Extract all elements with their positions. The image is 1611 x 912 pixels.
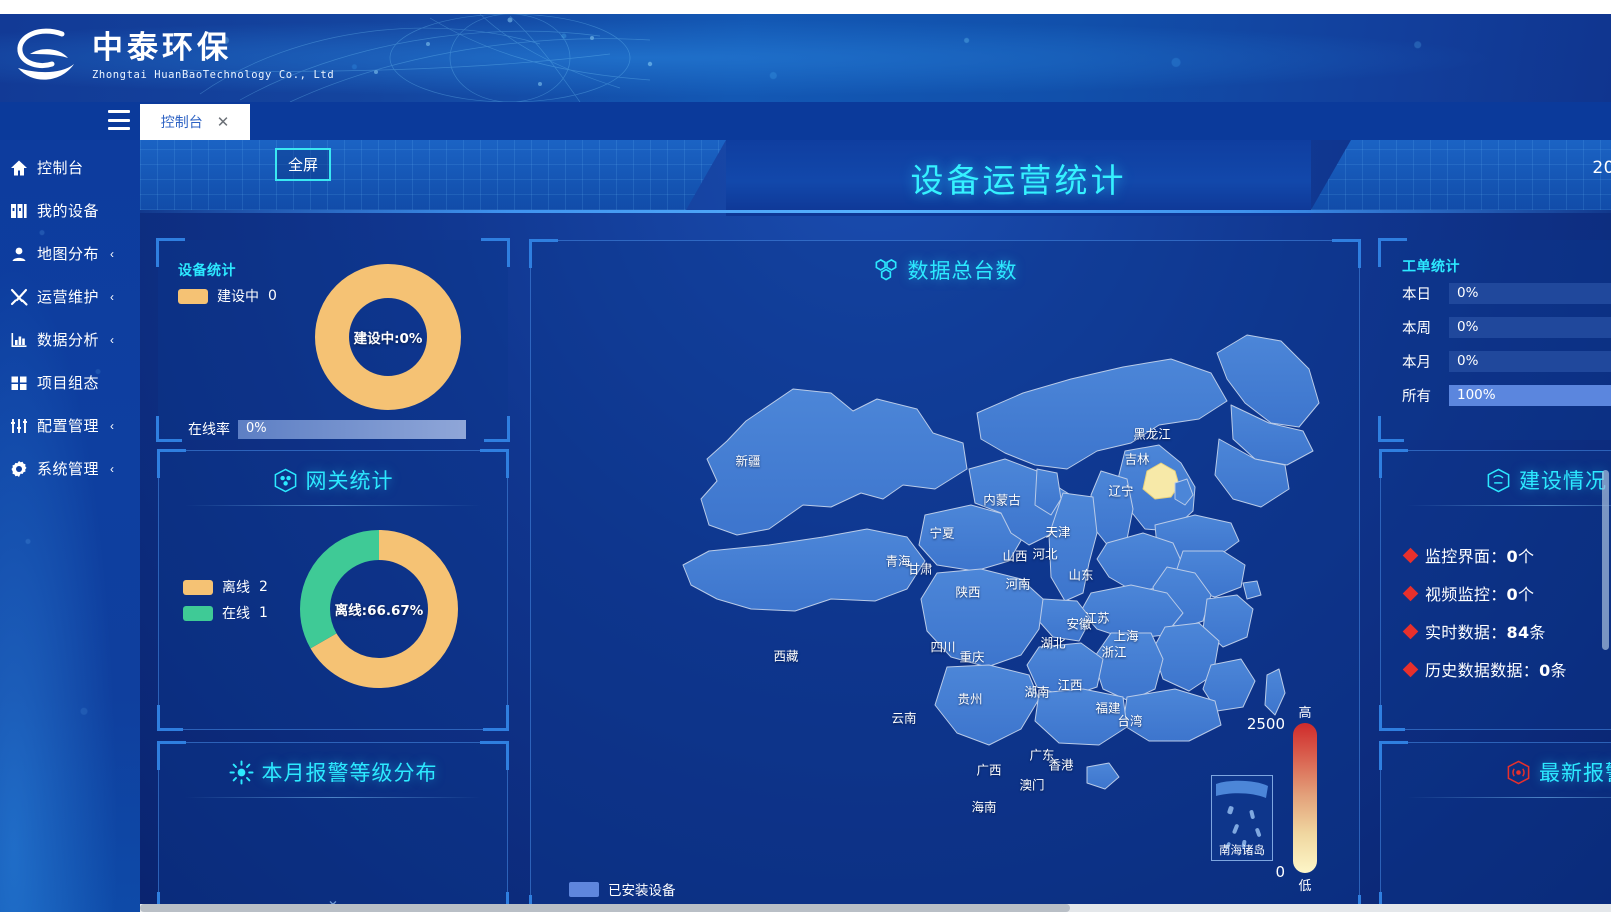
province-label: 甘肃 xyxy=(907,559,932,578)
sidebar-item-label: 项目组态 xyxy=(37,372,99,393)
brand-name-en: Zhongtai HuanBaoTechnology Co., Ltd xyxy=(92,70,334,81)
home-icon xyxy=(6,159,32,177)
sidebar-item-label: 我的设备 xyxy=(37,200,99,221)
hex-cluster-icon xyxy=(873,257,900,284)
work-order-bar: 0% xyxy=(1449,317,1611,338)
construction-item-text: 监控界面：0个 xyxy=(1425,543,1534,567)
device-icon xyxy=(6,202,32,220)
construction-item: 实时数据：84条 xyxy=(1405,619,1567,643)
construction-item-unit: 个 xyxy=(1518,585,1534,604)
legend-label: 在线 xyxy=(222,603,250,623)
sidebar-item-data-analysis[interactable]: 数据分析 ‹ xyxy=(0,318,140,361)
province-label: 吉林 xyxy=(1124,449,1149,468)
legend-item[interactable]: 在线 1 xyxy=(183,603,268,623)
chart-icon xyxy=(6,331,32,349)
tab-console[interactable]: 控制台 ✕ xyxy=(140,104,250,140)
sidebar-item-operations[interactable]: 运营维护 ‹ xyxy=(0,275,140,318)
work-order-value: 0% xyxy=(1457,319,1478,335)
province-label: 广西 xyxy=(976,760,1001,779)
diamond-bullet-icon xyxy=(1403,661,1419,677)
province-label: 湖南 xyxy=(1024,682,1049,701)
legend-label: 离线 xyxy=(222,577,250,597)
province-label: 山西 xyxy=(1002,546,1027,565)
construction-item-value: 84 xyxy=(1507,623,1530,642)
province-label: 湖北 xyxy=(1040,633,1065,652)
work-order-bar: 100% xyxy=(1449,385,1611,406)
sidebar-item-console[interactable]: 控制台 xyxy=(0,146,140,189)
legend-color-swatch xyxy=(178,289,208,304)
construction-item-unit: 条 xyxy=(1551,661,1567,680)
work-order-bar: 0% xyxy=(1449,351,1611,372)
province-label: 内蒙古 xyxy=(983,490,1021,509)
colorbar-high-label: 高 xyxy=(1298,702,1311,721)
alarm-radio-icon xyxy=(1506,760,1531,785)
chevron-left-icon: ‹ xyxy=(110,462,114,476)
work-order-label: 本月 xyxy=(1402,351,1440,372)
legend-item[interactable]: 离线 2 xyxy=(183,577,268,597)
alarm-level-panel-title-text: 本月报警等级分布 xyxy=(262,757,438,787)
province-label: 陕西 xyxy=(955,582,980,601)
province-label: 宁夏 xyxy=(929,523,954,542)
grid-icon xyxy=(6,374,32,392)
construction-item-unit: 条 xyxy=(1529,623,1545,642)
header-right-decoration: 20 xyxy=(1311,140,1611,210)
sidebar-item-label: 控制台 xyxy=(37,157,84,178)
diamond-bullet-icon xyxy=(1403,547,1419,563)
brand-logo[interactable]: 中泰环保 Zhongtai HuanBaoTechnology Co., Ltd xyxy=(12,24,334,86)
construction-item-label: 视频监控： xyxy=(1425,585,1507,604)
legend-color-swatch xyxy=(569,882,599,897)
page-title: 设备运营统计 xyxy=(911,154,1127,202)
header-underline xyxy=(140,210,1611,213)
gateway-panel-title-text: 网关统计 xyxy=(306,465,394,495)
construction-item-unit: 个 xyxy=(1518,547,1534,566)
construction-item-value: 0 xyxy=(1507,585,1518,604)
device-stats-panel: 设备统计 建设中 0 建设中:0% xyxy=(158,240,508,440)
province-label: 黑龙江 xyxy=(1133,424,1171,443)
construction-item-label: 实时数据： xyxy=(1425,623,1507,642)
construction-item-label: 监控界面： xyxy=(1425,547,1507,566)
province-label: 天津 xyxy=(1045,522,1070,541)
province-label: 澳门 xyxy=(1019,775,1044,794)
work-order-label: 本日 xyxy=(1402,283,1440,304)
work-order-bar: 0% xyxy=(1449,283,1611,304)
chevron-left-icon: ‹ xyxy=(110,247,114,261)
map-panel: 数据总台数 xyxy=(530,240,1360,904)
online-rate-label: 在线率 xyxy=(188,419,230,439)
tab-label: 控制台 xyxy=(161,112,203,132)
construction-item: 监控界面：0个 xyxy=(1405,543,1567,567)
work-order-row[interactable]: 本周 0% xyxy=(1402,317,1611,338)
work-order-stats-panel: 工单统计 本日 0% 本周 0% 本月 xyxy=(1380,240,1611,440)
colorbar-min-value: 0 xyxy=(1275,863,1285,881)
province-label: 新疆 xyxy=(735,451,760,470)
chevron-left-icon: ‹ xyxy=(110,333,114,347)
colorbar-gradient xyxy=(1293,723,1317,873)
construction-item-text: 历史数据数据：0条 xyxy=(1425,657,1567,681)
work-order-value: 0% xyxy=(1457,285,1478,301)
wave-leaf-logo-icon xyxy=(12,24,84,86)
work-order-row[interactable]: 本日 0% xyxy=(1402,283,1611,304)
construction-hex-icon xyxy=(1486,468,1511,493)
province-label: 浙江 xyxy=(1101,642,1126,661)
donut-center-label: 建设中:0% xyxy=(354,327,423,347)
province-label: 海南 xyxy=(971,797,996,816)
province-label: 江西 xyxy=(1057,675,1082,694)
nanhai-inset-label: 南海诸岛 xyxy=(1212,842,1272,858)
sidebar-item-label: 系统管理 xyxy=(37,458,99,479)
sliders-icon xyxy=(6,417,32,435)
latest-alarm-panel-title: 最新报警 xyxy=(1381,743,1611,787)
legend-color-swatch xyxy=(183,580,213,595)
donut-center-label: 离线:66.67% xyxy=(335,599,424,619)
device-stats-caption: 设备统计 xyxy=(178,260,277,280)
latest-alarm-panel-title-text: 最新报警 xyxy=(1539,757,1611,787)
map-pin-icon xyxy=(6,245,32,263)
sidebar-item-label: 配置管理 xyxy=(37,415,99,436)
horizontal-scrollbar[interactable] xyxy=(140,904,1611,912)
nanhai-islands-inset: 南海诸岛 xyxy=(1211,775,1273,861)
map-panel-title: 数据总台数 xyxy=(531,241,1359,285)
province-label: 山东 xyxy=(1068,565,1093,584)
header-center: 设备运营统计 xyxy=(726,140,1311,216)
map-panel-title-text: 数据总台数 xyxy=(908,255,1018,285)
construction-panel-title: 建设情况 xyxy=(1381,451,1611,495)
colorbar-low-label: 低 xyxy=(1298,875,1311,894)
construction-item-text: 实时数据：84条 xyxy=(1425,619,1546,643)
map-legend-label: 已安装设备 xyxy=(608,879,676,899)
hamburger-menu-icon[interactable] xyxy=(108,110,130,130)
sidebar-item-settings-management[interactable]: 配置管理 ‹ xyxy=(0,404,140,447)
sidebar-item-system-management[interactable]: 系统管理 ‹ xyxy=(0,447,140,490)
brand-name-cn: 中泰环保 xyxy=(92,33,334,64)
panel-divider xyxy=(1407,797,1611,798)
province-label: 四川 xyxy=(930,637,955,656)
panel-divider xyxy=(185,505,481,506)
brand-header: 中泰环保 Zhongtai HuanBaoTechnology Co., Ltd xyxy=(0,14,1611,102)
province-label: 云南 xyxy=(891,708,916,727)
gear-icon xyxy=(6,460,32,478)
construction-panel: 建设情况 监控界面：0个 视频监控：0个 xyxy=(1380,450,1611,730)
legend-value: 1 xyxy=(259,605,268,621)
construction-item-label: 历史数据数据： xyxy=(1425,661,1539,680)
work-order-label: 本周 xyxy=(1402,317,1440,338)
construction-item-value: 0 xyxy=(1539,661,1550,680)
browser-top-strip xyxy=(0,0,1611,14)
province-label: 辽宁 xyxy=(1108,481,1133,500)
work-order-row[interactable]: 本月 0% xyxy=(1402,351,1611,372)
province-label: 江苏 xyxy=(1084,608,1109,627)
chevron-left-icon: ‹ xyxy=(110,419,114,433)
legend-label: 建设中 xyxy=(217,286,259,306)
sidebar-item-label: 运营维护 xyxy=(37,286,99,307)
online-rate-value: 0% xyxy=(246,421,267,436)
legend-value: 0 xyxy=(268,288,277,304)
construction-item: 历史数据数据：0条 xyxy=(1405,657,1567,681)
province-label: 贵州 xyxy=(957,689,982,708)
province-label: 重庆 xyxy=(959,647,984,666)
sidebar: 控制台 我的设备 地图分布 ‹ 运营维护 ‹ 数据分析 xyxy=(0,140,140,912)
diamond-bullet-icon xyxy=(1403,623,1419,639)
construction-item: 视频监控：0个 xyxy=(1405,581,1567,605)
dashboard-header: 20 设备运营统计 全屏 xyxy=(140,140,1611,216)
legend-value: 2 xyxy=(259,579,268,595)
dashboard-page: 中泰环保 Zhongtai HuanBaoTechnology Co., Ltd… xyxy=(0,0,1611,912)
panel-divider xyxy=(1407,505,1611,506)
work-order-row[interactable]: 所有 100% xyxy=(1402,385,1611,406)
work-order-caption: 工单统计 xyxy=(1402,256,1611,276)
close-icon[interactable]: ✕ xyxy=(217,115,230,130)
province-label: 河北 xyxy=(1032,544,1057,563)
map-colorbar[interactable]: 高 低 2500 0 xyxy=(1293,723,1317,873)
legend-item[interactable]: 建设中 0 xyxy=(178,286,277,306)
header-left-decoration xyxy=(140,140,726,210)
province-label: 台湾 xyxy=(1117,711,1142,730)
scroll-down-icon: ⌄ xyxy=(326,890,339,904)
chevron-left-icon: ‹ xyxy=(110,290,114,304)
work-order-value: 0% xyxy=(1457,353,1478,369)
dashboard-canvas: 20 设备运营统计 全屏 设备统计 建设中 0 xyxy=(140,140,1611,904)
map-legend: 已安装设备 xyxy=(569,879,676,899)
alarm-level-panel: 本月报警等级分布 ⌄ xyxy=(158,742,508,904)
header-datetime: 20 xyxy=(1592,158,1611,178)
colorbar-max-value: 2500 xyxy=(1247,715,1285,733)
diamond-bullet-icon xyxy=(1403,585,1419,601)
gateway-stats-panel: 网关统计 离线 2 在线 1 xyxy=(158,450,508,730)
construction-panel-title-text: 建设情况 xyxy=(1519,465,1607,495)
province-label: 河南 xyxy=(1005,574,1030,593)
sidebar-item-project-config[interactable]: 项目组态 xyxy=(0,361,140,404)
alarm-level-panel-title: 本月报警等级分布 xyxy=(159,743,507,787)
online-rate-row: 在线率 0% xyxy=(188,419,466,439)
sidebar-item-map-distribution[interactable]: 地图分布 ‹ xyxy=(0,232,140,275)
construction-item-text: 视频监控：0个 xyxy=(1425,581,1534,605)
work-order-value: 100% xyxy=(1457,387,1496,403)
online-rate-bar[interactable]: 0% xyxy=(238,420,466,439)
vertical-scrollbar[interactable] xyxy=(1602,470,1609,650)
gateway-donut-chart[interactable]: 离线:66.67% xyxy=(289,519,469,699)
gateway-panel-title: 网关统计 xyxy=(159,451,507,495)
fullscreen-button[interactable]: 全屏 xyxy=(275,148,331,181)
work-order-label: 所有 xyxy=(1402,385,1440,406)
tools-icon xyxy=(6,288,32,306)
legend-color-swatch xyxy=(183,606,213,621)
panel-divider xyxy=(185,797,481,798)
sidebar-item-my-devices[interactable]: 我的设备 xyxy=(0,189,140,232)
latest-alarm-panel: 最新报警 xyxy=(1380,742,1611,904)
province-label: 香港 xyxy=(1048,755,1073,774)
construction-item-value: 0 xyxy=(1507,547,1518,566)
province-label: 西藏 xyxy=(773,646,798,665)
gateway-hex-icon xyxy=(273,468,298,493)
sidebar-item-label: 地图分布 xyxy=(37,243,99,264)
alarm-burst-icon xyxy=(229,760,254,785)
sidebar-item-label: 数据分析 xyxy=(37,329,99,350)
device-donut-chart[interactable]: 建设中:0% xyxy=(313,262,463,412)
